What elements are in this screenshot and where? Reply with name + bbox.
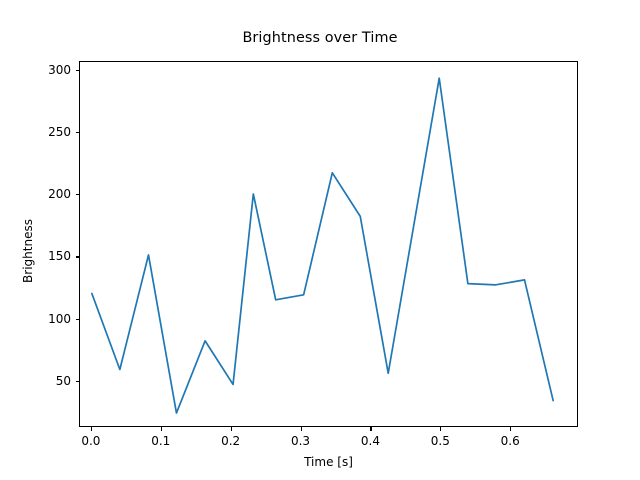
chart-title: Brightness over Time [0, 30, 640, 46]
x-tick-label: 0.0 [81, 434, 100, 448]
x-tick-mark [510, 427, 511, 431]
x-tick-label: 0.2 [221, 434, 240, 448]
x-tick-label: 0.6 [501, 434, 520, 448]
brightness-line [92, 78, 553, 413]
y-tick-mark [76, 132, 80, 133]
y-tick-label: 250 [9, 125, 71, 139]
y-tick-mark [76, 194, 80, 195]
x-tick-mark [440, 427, 441, 431]
x-tick-label: 0.1 [151, 434, 170, 448]
y-tick-mark [76, 319, 80, 320]
x-tick-label: 0.4 [361, 434, 380, 448]
x-tick-mark [91, 427, 92, 431]
x-tick-mark [161, 427, 162, 431]
y-tick-label: 300 [9, 63, 71, 77]
y-tick-label: 150 [9, 249, 71, 263]
line-series-plot [80, 62, 579, 428]
y-tick-label: 100 [9, 312, 71, 326]
y-tick-mark [76, 70, 80, 71]
x-tick-mark [370, 427, 371, 431]
matplotlib-figure: Brightness over Time 50100150200250300 0… [0, 0, 640, 480]
x-tick-mark [301, 427, 302, 431]
y-tick-label: 200 [9, 187, 71, 201]
x-tick-label: 0.3 [291, 434, 310, 448]
y-tick-mark [76, 381, 80, 382]
y-tick-label: 50 [9, 374, 71, 388]
y-axis-label: Brightness [21, 171, 35, 331]
x-axis-label: Time [s] [79, 455, 578, 469]
y-tick-mark [76, 256, 80, 257]
x-tick-mark [231, 427, 232, 431]
plot-axes-area [79, 61, 578, 427]
x-tick-label: 0.5 [431, 434, 450, 448]
